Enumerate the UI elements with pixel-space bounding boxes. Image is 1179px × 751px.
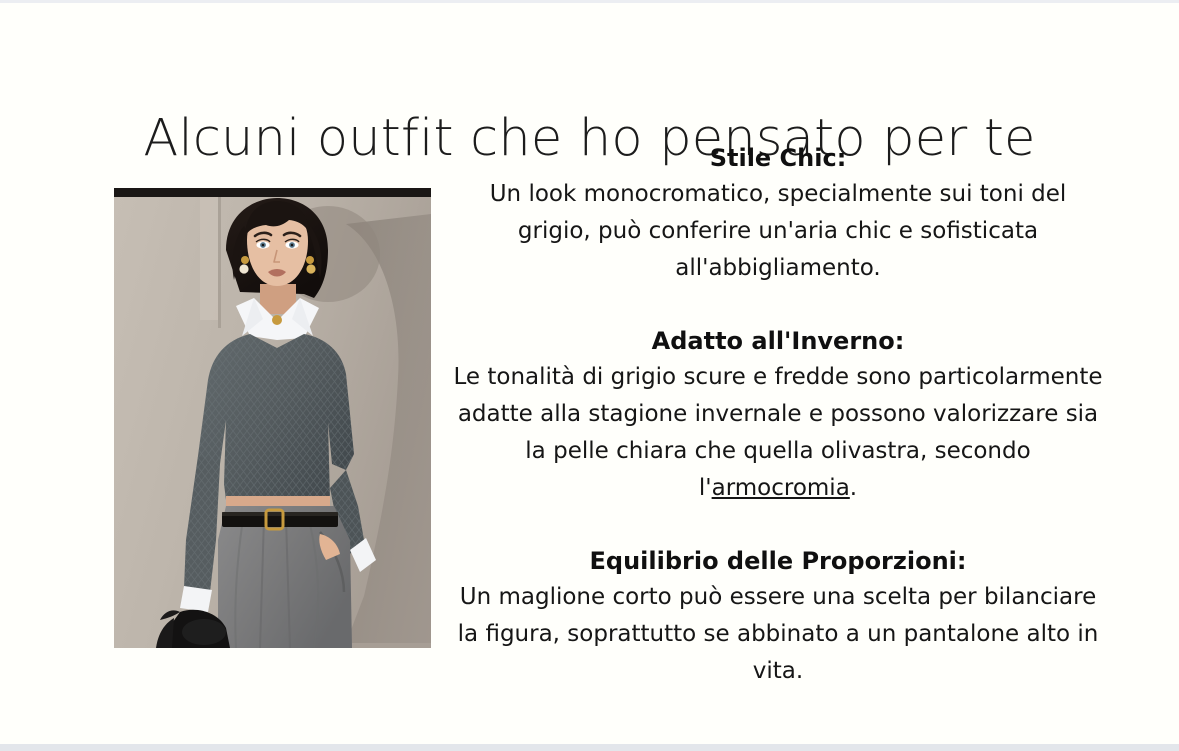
section-heading: Adatto all'Inverno:	[452, 323, 1104, 359]
section-heading: Equilibrio delle Proporzioni:	[452, 543, 1104, 579]
section-body-text-after-link: .	[850, 475, 857, 501]
section-stile-chic: Stile Chic: Un look monocromatico, speci…	[452, 140, 1104, 287]
section-spacer	[452, 507, 1104, 543]
bottom-divider	[0, 744, 1179, 751]
section-spacer	[452, 287, 1104, 323]
section-body: Le tonalità di grigio scure e fredde son…	[452, 359, 1104, 507]
section-equilibrio-proporzioni: Equilibrio delle Proporzioni: Un maglion…	[452, 543, 1104, 690]
armocromia-link[interactable]: armocromia	[712, 475, 850, 501]
section-heading: Stile Chic:	[452, 140, 1104, 176]
outfit-description-column: Stile Chic: Un look monocromatico, speci…	[452, 140, 1104, 690]
section-adatto-inverno: Adatto all'Inverno: Le tonalità di grigi…	[452, 323, 1104, 507]
section-body: Un maglione corto può essere una scelta …	[452, 579, 1104, 690]
outfit-photo	[114, 188, 431, 648]
top-divider	[0, 0, 1179, 3]
page-root: Alcuni outfit che ho pensato per te	[0, 0, 1179, 751]
outfit-photo-illustration	[114, 188, 431, 648]
section-body: Un look monocromatico, specialmente sui …	[452, 176, 1104, 287]
